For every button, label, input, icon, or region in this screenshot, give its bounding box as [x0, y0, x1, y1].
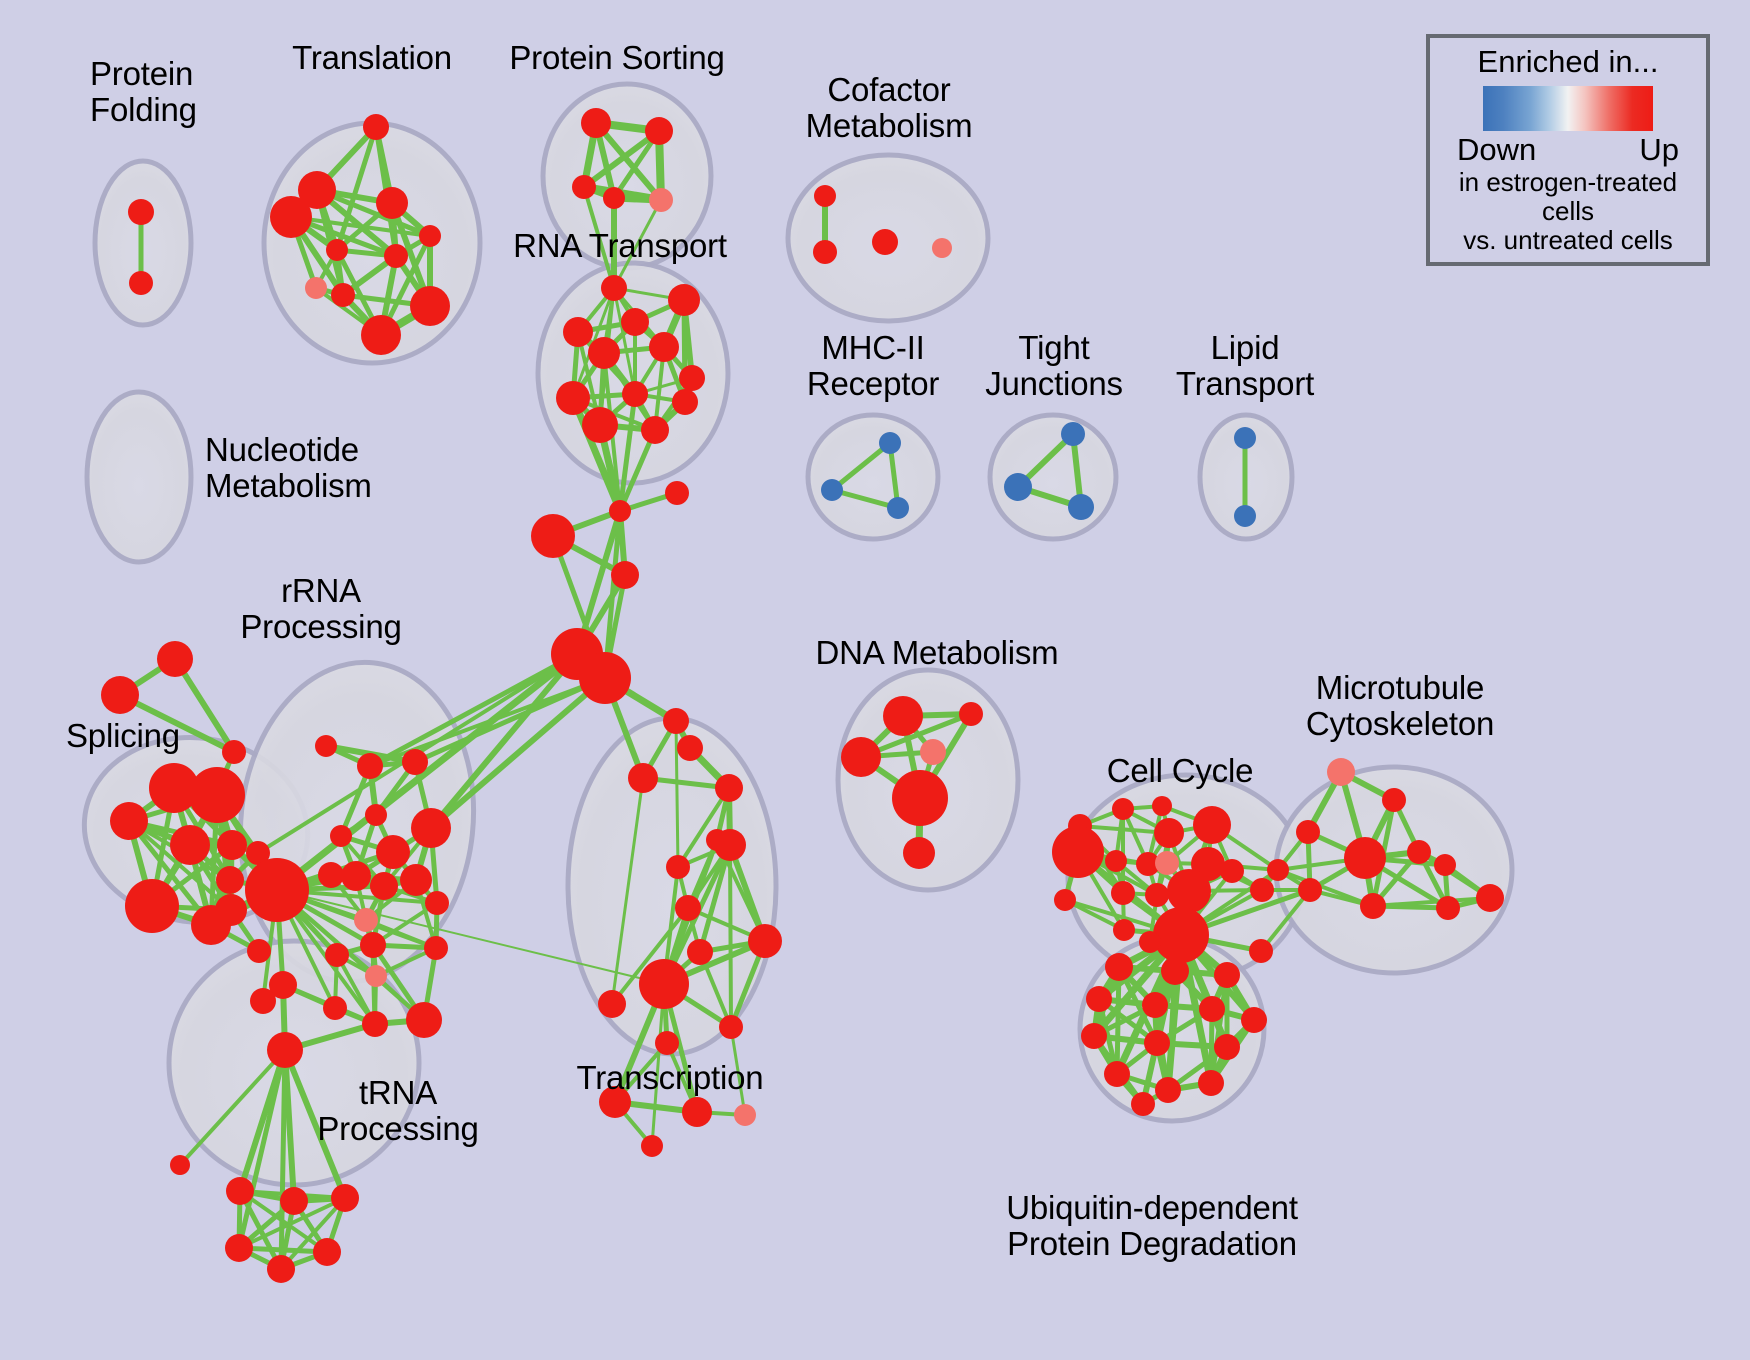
network-node[interactable] — [157, 641, 193, 677]
network-node[interactable] — [245, 858, 309, 922]
network-node[interactable] — [101, 676, 139, 714]
network-node[interactable] — [250, 988, 276, 1014]
network-node[interactable] — [672, 389, 698, 415]
network-node[interactable] — [305, 277, 327, 299]
network-node[interactable] — [814, 185, 836, 207]
network-node[interactable] — [1249, 939, 1273, 963]
network-node[interactable] — [331, 283, 355, 307]
network-node[interactable] — [655, 1031, 679, 1055]
network-node[interactable] — [1104, 1061, 1130, 1087]
network-node[interactable] — [376, 835, 410, 869]
network-node[interactable] — [649, 188, 673, 212]
network-node[interactable] — [581, 108, 611, 138]
network-node[interactable] — [1234, 427, 1256, 449]
network-edge — [676, 721, 678, 867]
network-node[interactable] — [1344, 837, 1386, 879]
network-node[interactable] — [920, 739, 946, 765]
network-node[interactable] — [622, 381, 648, 407]
network-node[interactable] — [1161, 957, 1189, 985]
legend-title: Enriched in... — [1478, 44, 1659, 80]
network-node[interactable] — [1193, 806, 1231, 844]
network-node[interactable] — [572, 175, 596, 199]
network-node[interactable] — [1360, 893, 1386, 919]
network-node[interactable] — [1112, 798, 1134, 820]
network-node[interactable] — [1267, 859, 1289, 881]
cluster-label-nucleotide-metabolism: Nucleotide Metabolism — [205, 432, 372, 503]
legend-subtitle-line1: in estrogen-treated cells — [1430, 168, 1706, 226]
network-node[interactable] — [267, 1032, 303, 1068]
cluster-label-rrna-processing: rRNA Processing — [240, 573, 401, 644]
network-node[interactable] — [1220, 859, 1244, 883]
network-node[interactable] — [666, 855, 690, 879]
network-node[interactable] — [280, 1187, 308, 1215]
cluster-label-protein-sorting: Protein Sorting — [509, 40, 724, 76]
network-node[interactable] — [331, 1184, 359, 1212]
cluster-label-splicing: Splicing — [66, 718, 180, 754]
network-node[interactable] — [325, 943, 349, 967]
network-node[interactable] — [402, 749, 428, 775]
network-node[interactable] — [611, 561, 639, 589]
network-node[interactable] — [1142, 992, 1168, 1018]
network-node[interactable] — [1234, 505, 1256, 527]
network-node[interactable] — [841, 737, 881, 777]
network-node[interactable] — [813, 240, 837, 264]
network-node[interactable] — [714, 829, 746, 861]
network-node[interactable] — [1298, 878, 1322, 902]
cluster-label-ubiquitin-degradation: Ubiquitin-dependent Protein Degradation — [1006, 1190, 1298, 1261]
network-node[interactable] — [217, 830, 247, 860]
network-node[interactable] — [1154, 818, 1184, 848]
cluster-label-transcription: Transcription — [577, 1060, 764, 1096]
legend-box: Enriched in... Down Up in estrogen-treat… — [1426, 34, 1710, 266]
network-node[interactable] — [129, 271, 153, 295]
legend-up-label: Up — [1639, 132, 1679, 168]
network-node[interactable] — [1052, 826, 1104, 878]
network-node[interactable] — [360, 932, 386, 958]
network-edge — [1117, 967, 1119, 1074]
network-node[interactable] — [361, 315, 401, 355]
network-node[interactable] — [641, 416, 669, 444]
network-node[interactable] — [588, 337, 620, 369]
cluster-label-rna-transport: RNA Transport — [513, 228, 727, 264]
network-node[interactable] — [326, 239, 348, 261]
network-node[interactable] — [665, 481, 689, 505]
network-node[interactable] — [668, 284, 700, 316]
network-node[interactable] — [679, 365, 705, 391]
network-node[interactable] — [582, 407, 618, 443]
network-node[interactable] — [170, 1155, 190, 1175]
network-node[interactable] — [872, 229, 898, 255]
network-node[interactable] — [556, 381, 590, 415]
network-node[interactable] — [887, 497, 909, 519]
network-node[interactable] — [318, 862, 344, 888]
network-node[interactable] — [1144, 1030, 1170, 1056]
cluster-label-mhc-ii-receptor: MHC-II Receptor — [807, 330, 939, 401]
cluster-label-microtubule-cytoskeleton: Microtubule Cytoskeleton — [1306, 670, 1494, 741]
network-node[interactable] — [313, 1238, 341, 1266]
network-node[interactable] — [128, 199, 154, 225]
network-node[interactable] — [748, 924, 782, 958]
network-node[interactable] — [170, 825, 210, 865]
network-node[interactable] — [354, 908, 378, 932]
network-node[interactable] — [821, 479, 843, 501]
network-node[interactable] — [687, 939, 713, 965]
network-node[interactable] — [1004, 473, 1032, 501]
network-node[interactable] — [1296, 820, 1320, 844]
network-node[interactable] — [365, 804, 387, 826]
network-node[interactable] — [315, 735, 337, 757]
network-node[interactable] — [601, 275, 627, 301]
network-node[interactable] — [1086, 986, 1112, 1012]
network-node[interactable] — [365, 965, 387, 987]
network-node[interactable] — [598, 990, 626, 1018]
network-node[interactable] — [425, 891, 449, 915]
network-node[interactable] — [410, 286, 450, 326]
network-node[interactable] — [959, 702, 983, 726]
network-edge — [730, 845, 731, 1027]
network-node[interactable] — [1105, 850, 1127, 872]
network-node[interactable] — [628, 763, 658, 793]
network-node[interactable] — [579, 652, 631, 704]
network-node[interactable] — [879, 432, 901, 454]
network-node[interactable] — [1407, 840, 1431, 864]
network-node[interactable] — [110, 802, 148, 840]
network-node[interactable] — [1382, 788, 1406, 812]
network-node[interactable] — [663, 708, 689, 734]
network-node[interactable] — [621, 308, 649, 336]
network-node[interactable] — [222, 740, 246, 764]
network-node[interactable] — [719, 1015, 743, 1039]
cluster-label-cell-cycle: Cell Cycle — [1107, 753, 1254, 789]
network-node[interactable] — [1436, 896, 1460, 920]
network-node[interactable] — [649, 332, 679, 362]
network-node[interactable] — [330, 825, 352, 847]
network-node[interactable] — [1081, 1023, 1107, 1049]
network-node[interactable] — [215, 894, 247, 926]
cluster-label-trna-processing: tRNA Processing — [317, 1075, 478, 1146]
network-node[interactable] — [384, 244, 408, 268]
network-node[interactable] — [639, 959, 689, 1009]
network-node[interactable] — [1153, 907, 1209, 963]
network-node[interactable] — [1476, 884, 1504, 912]
network-node[interactable] — [1167, 869, 1211, 913]
network-node[interactable] — [1068, 494, 1094, 520]
network-node[interactable] — [932, 238, 952, 258]
network-node[interactable] — [1113, 919, 1135, 941]
network-node[interactable] — [411, 808, 451, 848]
network-node[interactable] — [216, 866, 244, 894]
network-node[interactable] — [424, 936, 448, 960]
network-figure: Protein FoldingTranslationProtein Sortin… — [0, 0, 1750, 1360]
network-node[interactable] — [1199, 996, 1225, 1022]
network-node[interactable] — [323, 996, 347, 1020]
network-node[interactable] — [1327, 758, 1355, 786]
network-node[interactable] — [1152, 796, 1172, 816]
legend-colorbar — [1483, 86, 1653, 131]
network-node[interactable] — [189, 767, 245, 823]
legend-subtitle-line2: vs. untreated cells — [1463, 226, 1673, 255]
network-node[interactable] — [400, 864, 432, 896]
network-node[interactable] — [1139, 931, 1161, 953]
network-node[interactable] — [1054, 889, 1076, 911]
network-node[interactable] — [1131, 1092, 1155, 1116]
network-node[interactable] — [1105, 953, 1133, 981]
network-node[interactable] — [267, 1255, 295, 1283]
cluster-label-tight-junctions: Tight Junctions — [985, 330, 1123, 401]
cluster-label-lipid-transport: Lipid Transport — [1176, 330, 1314, 401]
network-node[interactable] — [125, 879, 179, 933]
network-node[interactable] — [1155, 851, 1179, 875]
network-node[interactable] — [1214, 1034, 1240, 1060]
network-node[interactable] — [1198, 1070, 1224, 1096]
cluster-label-cofactor-metabolism: Cofactor Metabolism — [806, 72, 973, 143]
network-node[interactable] — [370, 872, 398, 900]
network-node[interactable] — [1214, 962, 1240, 988]
network-node[interactable] — [341, 861, 371, 891]
cluster-label-dna-metabolism: DNA Metabolism — [816, 635, 1059, 671]
legend-endpoints: Down Up — [1457, 132, 1679, 168]
network-node[interactable] — [1155, 1077, 1181, 1103]
network-node[interactable] — [357, 753, 383, 779]
legend-down-label: Down — [1457, 132, 1536, 168]
network-node[interactable] — [1241, 1007, 1267, 1033]
network-node[interactable] — [226, 1177, 254, 1205]
cluster-label-protein-folding: Protein Folding — [90, 56, 197, 127]
network-node[interactable] — [603, 187, 625, 209]
network-node[interactable] — [1061, 422, 1085, 446]
cluster-ellipse-mhc-ii-receptor — [808, 415, 938, 539]
network-node[interactable] — [247, 939, 271, 963]
network-node[interactable] — [362, 1011, 388, 1037]
network-node[interactable] — [419, 225, 441, 247]
network-node[interactable] — [1145, 883, 1169, 907]
network-node[interactable] — [609, 500, 631, 522]
network-node[interactable] — [225, 1234, 253, 1262]
network-node[interactable] — [645, 117, 673, 145]
network-node[interactable] — [641, 1135, 663, 1157]
network-node[interactable] — [363, 114, 389, 140]
network-node[interactable] — [682, 1097, 712, 1127]
network-node[interactable] — [531, 514, 575, 558]
network-node[interactable] — [563, 317, 593, 347]
cluster-label-translation: Translation — [292, 40, 452, 76]
network-node[interactable] — [376, 187, 408, 219]
cluster-ellipse-nucleotide-metabolism — [87, 392, 191, 562]
network-node[interactable] — [1250, 878, 1274, 902]
network-node[interactable] — [406, 1002, 442, 1038]
network-node[interactable] — [677, 735, 703, 761]
network-node[interactable] — [715, 774, 743, 802]
network-node[interactable] — [903, 837, 935, 869]
network-node[interactable] — [1434, 854, 1456, 876]
network-node[interactable] — [1111, 881, 1135, 905]
network-node[interactable] — [883, 696, 923, 736]
network-node[interactable] — [270, 196, 312, 238]
network-node[interactable] — [675, 895, 701, 921]
network-node[interactable] — [734, 1104, 756, 1126]
network-node[interactable] — [892, 770, 948, 826]
